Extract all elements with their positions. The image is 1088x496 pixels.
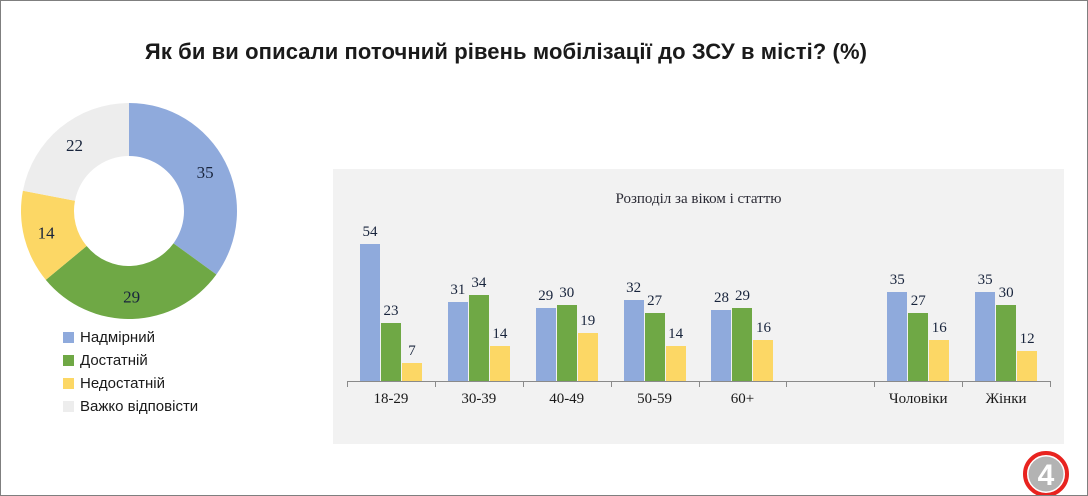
slide-canvas: Як би ви описали поточний рівень мобіліз… xyxy=(0,0,1088,496)
bar-column[interactable]: 35 xyxy=(975,229,995,381)
bar-column[interactable]: 14 xyxy=(666,229,686,381)
bar-value-label: 14 xyxy=(483,326,517,343)
legend-item[interactable]: Надмірний xyxy=(63,326,293,349)
bar-column[interactable]: 29 xyxy=(732,229,752,381)
bar[interactable] xyxy=(624,300,644,381)
legend-item-label: Достатній xyxy=(80,349,148,372)
legend-swatch-icon xyxy=(63,401,74,412)
bar-group: 293019 xyxy=(536,229,598,381)
bar[interactable] xyxy=(402,363,422,381)
legend-swatch-icon xyxy=(63,332,74,343)
bar-chart-subtitle: Розподіл за віком і статтю xyxy=(333,191,1064,208)
bar[interactable] xyxy=(666,346,686,381)
donut-data-label: 35 xyxy=(197,163,214,182)
legend-swatch-icon xyxy=(63,378,74,389)
bar-value-label: 16 xyxy=(922,320,956,337)
bar[interactable] xyxy=(536,308,556,381)
x-axis-tick xyxy=(874,381,875,387)
x-axis-tick xyxy=(1050,381,1051,387)
x-axis-tick xyxy=(523,381,524,387)
legend-item-label: Важко відповісти xyxy=(80,395,198,418)
bar-column[interactable]: 19 xyxy=(578,229,598,381)
bar[interactable] xyxy=(1017,351,1037,381)
bar-group: 313414 xyxy=(448,229,510,381)
x-axis-tick xyxy=(347,381,348,387)
bar-group: 352716 xyxy=(887,229,949,381)
bar[interactable] xyxy=(490,346,510,381)
donut-data-label: 22 xyxy=(66,136,83,155)
x-axis-label: 60+ xyxy=(687,391,797,408)
bar-chart-panel: Розподіл за віком і статтю 5423731341429… xyxy=(333,169,1064,444)
bar-column[interactable]: 29 xyxy=(536,229,556,381)
legend-item[interactable]: Важко відповісти xyxy=(63,395,293,418)
bar-column[interactable]: 27 xyxy=(645,229,665,381)
legend-item-label: Надмірний xyxy=(80,326,155,349)
legend-item-label: Недостатній xyxy=(80,372,165,395)
bar-group: 353012 xyxy=(975,229,1037,381)
bar[interactable] xyxy=(975,292,995,381)
x-axis-label: Жінки xyxy=(951,391,1061,408)
bar-group: 54237 xyxy=(360,229,422,381)
bar[interactable] xyxy=(929,340,949,381)
x-axis-tick xyxy=(786,381,787,387)
bar-value-label: 12 xyxy=(1010,331,1044,348)
channel-logo: 4 xyxy=(1023,451,1069,496)
bar-value-label: 19 xyxy=(571,313,605,330)
bar-value-label: 14 xyxy=(659,326,693,343)
bar-column[interactable]: 27 xyxy=(908,229,928,381)
bar-column[interactable]: 7 xyxy=(402,229,422,381)
bar-column[interactable]: 28 xyxy=(711,229,731,381)
bar[interactable] xyxy=(753,340,773,381)
bar-value-label: 16 xyxy=(746,320,780,337)
legend-item[interactable]: Недостатній xyxy=(63,372,293,395)
x-axis-tick xyxy=(699,381,700,387)
donut-svg: 35291422 xyxy=(15,97,265,332)
x-axis-tick xyxy=(962,381,963,387)
bar[interactable] xyxy=(645,313,665,381)
legend-swatch-icon xyxy=(63,355,74,366)
bar-column[interactable]: 12 xyxy=(1017,229,1037,381)
bar-group: 322714 xyxy=(624,229,686,381)
logo-label: 4 xyxy=(1038,459,1055,492)
bar-column[interactable]: 16 xyxy=(753,229,773,381)
bar-column[interactable]: 34 xyxy=(469,229,489,381)
bar-column[interactable]: 30 xyxy=(996,229,1016,381)
logo-svg: 4 xyxy=(1023,451,1069,496)
legend-item[interactable]: Достатній xyxy=(63,349,293,372)
bar-plot-area: 5423731341429301932271428291635271635301… xyxy=(347,229,1050,381)
chart-legend: НадмірнийДостатнійНедостатнійВажко відпо… xyxy=(63,326,293,418)
bar[interactable] xyxy=(732,308,752,381)
bar-value-label: 7 xyxy=(395,343,429,360)
bar-column[interactable]: 30 xyxy=(557,229,577,381)
bar[interactable] xyxy=(711,310,731,381)
bar-column[interactable]: 16 xyxy=(929,229,949,381)
bar-column[interactable]: 31 xyxy=(448,229,468,381)
bar-group: 282916 xyxy=(711,229,773,381)
donut-data-label: 14 xyxy=(38,223,56,242)
bar[interactable] xyxy=(448,302,468,381)
bar[interactable] xyxy=(578,333,598,381)
x-axis-tick xyxy=(435,381,436,387)
bar-column[interactable]: 14 xyxy=(490,229,510,381)
donut-chart: 35291422 xyxy=(15,97,265,332)
donut-slice[interactable] xyxy=(129,103,237,274)
x-axis-tick xyxy=(611,381,612,387)
donut-data-label: 29 xyxy=(123,287,140,306)
page-title: Як би ви описали поточний рівень мобіліз… xyxy=(1,39,1011,65)
